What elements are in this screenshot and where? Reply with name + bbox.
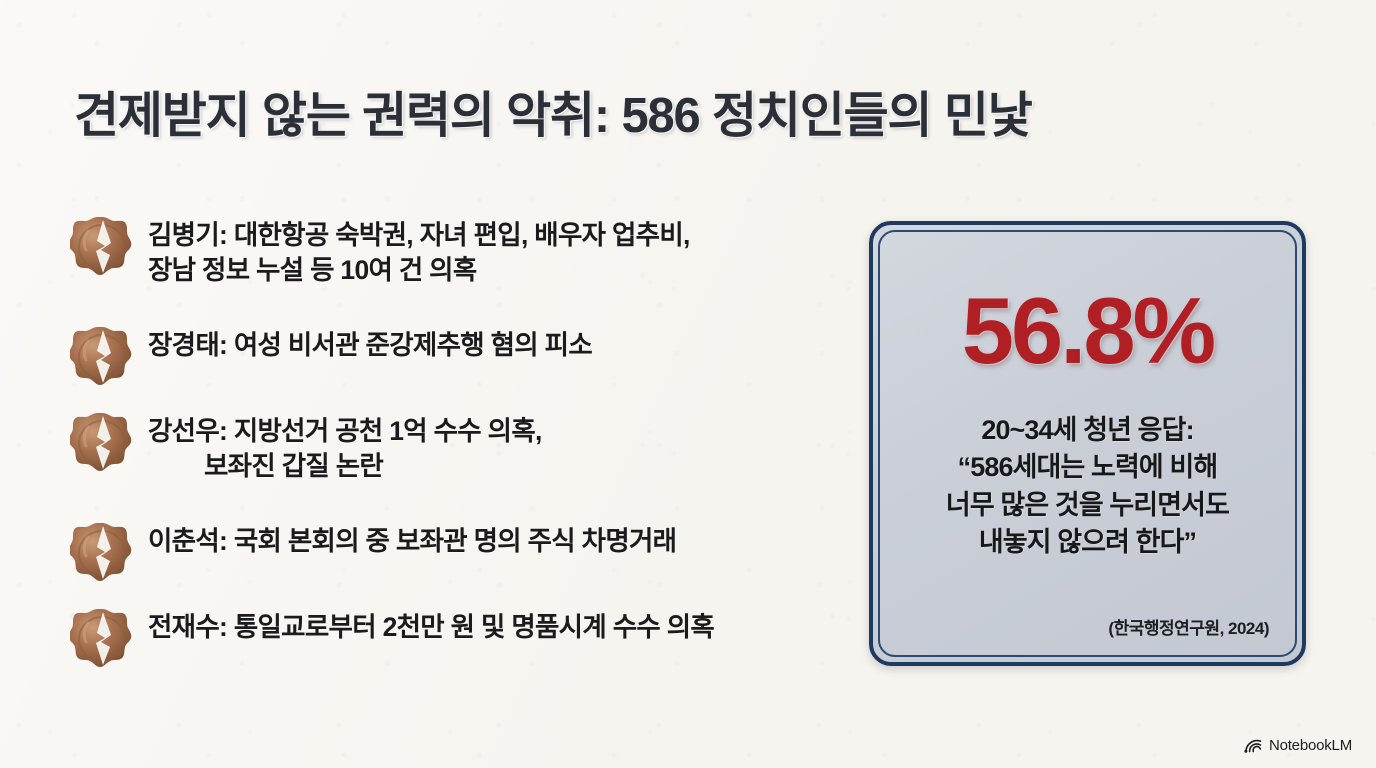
list-item-text: 장경태: 여성 비서관 준강제추행 혐의 피소 — [148, 323, 592, 363]
statistic-caption-line-3: 너무 많은 것을 누리면서도 — [946, 487, 1229, 524]
list-item: 강선우: 지방선거 공천 1억 수수 의혹, 보좌진 갑질 논란 — [70, 409, 860, 505]
statistic-caption-line-4: 내놓지 않으려 한다” — [946, 524, 1229, 561]
list-item-line-1: 전재수: 통일교로부터 2천만 원 및 명품시계 수수 의혹 — [148, 612, 714, 642]
page-title: 견제받지 않는 권력의 악취: 586 정치인들의 민낯 — [74, 76, 1314, 147]
list-item-text: 김병기: 대한항공 숙박권, 자녀 편입, 배우자 업추비, 장남 정보 누설 … — [148, 213, 690, 288]
notebooklm-arcs-icon — [1244, 738, 1262, 753]
notebooklm-watermark: NotebookLM — [1244, 737, 1352, 754]
list-item: 장경태: 여성 비서관 준강제추행 혐의 피소 — [70, 323, 860, 395]
broken-wax-seal-icon — [70, 607, 134, 669]
list-item-line-2: 보좌진 갑질 논란 — [148, 449, 542, 484]
list-item: 김병기: 대한항공 숙박권, 자녀 편입, 배우자 업추비, 장남 정보 누설 … — [70, 213, 860, 309]
list-item: 전재수: 통일교로부터 2천만 원 및 명품시계 수수 의혹 — [70, 605, 860, 677]
broken-wax-seal-icon — [70, 215, 134, 277]
broken-wax-seal-icon — [70, 411, 134, 473]
statistic-caption: 20~34세 청년 응답: “586세대는 노력에 비해 너무 많은 것을 누리… — [946, 412, 1229, 561]
list-item-text: 이춘석: 국회 본회의 중 보좌관 명의 주식 차명거래 — [148, 519, 676, 559]
notebooklm-label: NotebookLM — [1269, 737, 1352, 754]
list-item-line-2: 장남 정보 누설 등 10여 건 의혹 — [148, 253, 690, 288]
list-item-line-1: 이춘석: 국회 본회의 중 보좌관 명의 주식 차명거래 — [148, 526, 676, 556]
statistic-card-inner-frame: 56.8% 20~34세 청년 응답: “586세대는 노력에 비해 너무 많은… — [878, 230, 1297, 657]
list-item-text: 전재수: 통일교로부터 2천만 원 및 명품시계 수수 의혹 — [148, 605, 714, 645]
statistic-source-citation: (한국행정연구원, 2024) — [1108, 614, 1269, 639]
statistic-value: 56.8% — [962, 284, 1214, 378]
list-item-line-1: 강선우: 지방선거 공천 1억 수수 의혹, — [148, 416, 542, 446]
list-item-line-1: 장경태: 여성 비서관 준강제추행 혐의 피소 — [148, 330, 592, 360]
scandal-bullet-list: 김병기: 대한항공 숙박권, 자녀 편입, 배우자 업추비, 장남 정보 누설 … — [70, 213, 860, 677]
list-item-line-1: 김병기: 대한항공 숙박권, 자녀 편입, 배우자 업추비, — [148, 220, 690, 250]
broken-wax-seal-icon — [70, 325, 134, 387]
broken-wax-seal-icon — [70, 521, 134, 583]
statistic-card: 56.8% 20~34세 청년 응답: “586세대는 노력에 비해 너무 많은… — [869, 221, 1306, 666]
statistic-caption-line-1: 20~34세 청년 응답: — [946, 412, 1229, 449]
list-item: 이춘석: 국회 본회의 중 보좌관 명의 주식 차명거래 — [70, 519, 860, 591]
statistic-caption-line-2: “586세대는 노력에 비해 — [946, 449, 1229, 486]
list-item-text: 강선우: 지방선거 공천 1억 수수 의혹, 보좌진 갑질 논란 — [148, 409, 542, 484]
